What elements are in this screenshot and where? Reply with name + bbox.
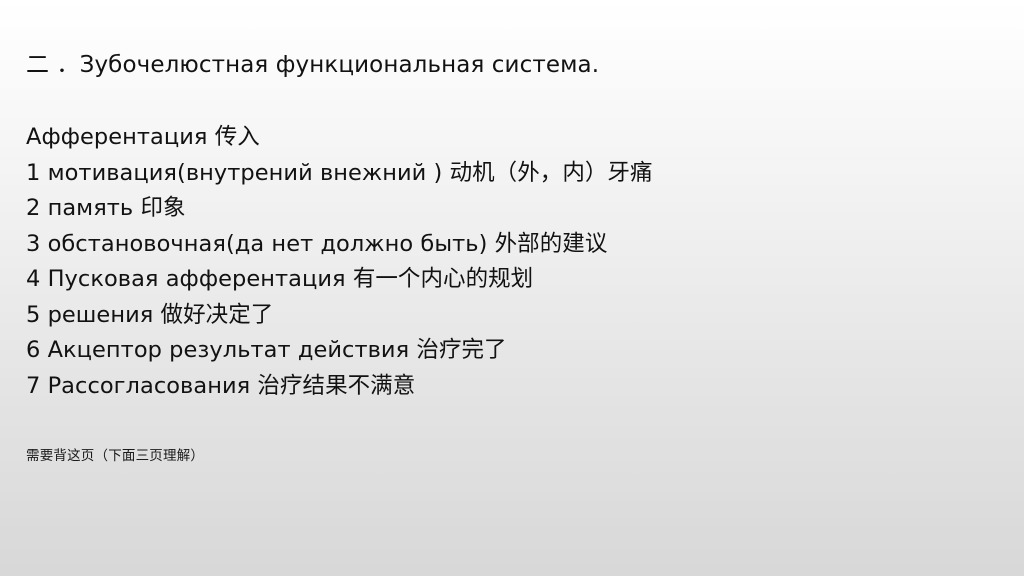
numbered-list: 1 мотивация(внутрений внежний ) 动机（外，内）牙…: [26, 156, 994, 405]
list-item: 6 Акцептор результат действия 治疗完了: [26, 333, 994, 369]
section-label-afferentation: Афферентация 传入: [26, 120, 994, 156]
slide-canvas: 二 ．Зубочелюстная функциональная система.…: [0, 0, 1024, 576]
list-item: 4 Пусковая афферентация 有一个内心的规划: [26, 262, 994, 298]
heading-spacer: [26, 82, 994, 120]
list-item: 3 обстановочная(да нет должно быть) 外部的建…: [26, 227, 994, 263]
footnote-container: 需要背这页（下面三页理解）: [26, 446, 994, 466]
list-item: 5 решения 做好决定了: [26, 298, 994, 334]
list-item: 2 память 印象: [26, 191, 994, 227]
slide-content: 二 ．Зубочелюстная функциональная система.…: [26, 48, 994, 466]
list-item: 1 мотивация(внутрений внежний ) 动机（外，内）牙…: [26, 156, 994, 192]
footnote-text: 需要背这页（下面三页理解）: [26, 446, 994, 466]
list-item: 7 Рассогласования 治疗结果不满意: [26, 369, 994, 405]
slide-heading: 二 ．Зубочелюстная функциональная система.: [26, 48, 994, 82]
